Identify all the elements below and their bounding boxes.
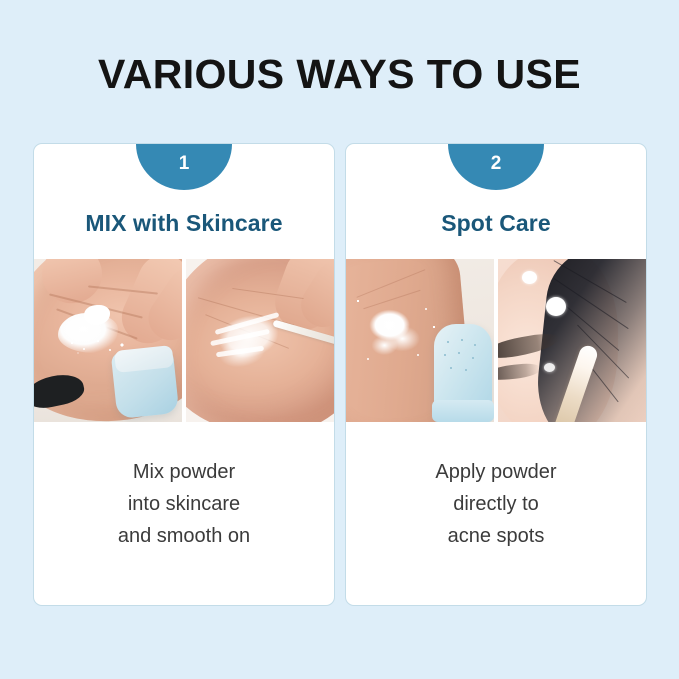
- infographic-page: VARIOUS WAYS TO USE 1 MIX with Skincare: [0, 0, 679, 679]
- product-spot: [522, 271, 537, 284]
- card-heading: MIX with Skincare: [85, 209, 282, 237]
- sifter-jar-base: [432, 400, 494, 422]
- step-number-label: 2: [491, 144, 502, 173]
- caption-line: directly to: [366, 488, 626, 520]
- sifter-holes: [440, 336, 484, 378]
- palm-with-powder-and-jar-photo: [34, 259, 182, 422]
- step-number-badge: 1: [136, 144, 232, 190]
- caption-line: Mix powder: [54, 456, 314, 488]
- forehead-spot-application-photo: [498, 259, 646, 422]
- caption-line: acne spots: [366, 520, 626, 552]
- usage-card-2: 2 Spot Care: [345, 143, 647, 606]
- step-number-badge: 2: [448, 144, 544, 190]
- caption-line: and smooth on: [54, 520, 314, 552]
- caption-line: Apply powder: [366, 456, 626, 488]
- step-number-label: 1: [179, 144, 190, 173]
- photo-strip: [34, 259, 334, 422]
- palm-with-cream-smear-photo: [186, 259, 334, 422]
- caption-line: into skincare: [54, 488, 314, 520]
- card-heading: Spot Care: [441, 209, 551, 237]
- card-caption: Apply powder directly to acne spots: [366, 456, 626, 552]
- photo-strip: [346, 259, 646, 422]
- usage-cards-container: 1 MIX with Skincare: [33, 143, 647, 606]
- page-title: VARIOUS WAYS TO USE: [0, 50, 679, 98]
- arm-with-powder-and-sifter-photo: [346, 259, 494, 422]
- product-spot: [546, 297, 566, 316]
- card-caption: Mix powder into skincare and smooth on: [54, 456, 314, 552]
- usage-card-1: 1 MIX with Skincare: [33, 143, 335, 606]
- product-spot: [544, 363, 555, 372]
